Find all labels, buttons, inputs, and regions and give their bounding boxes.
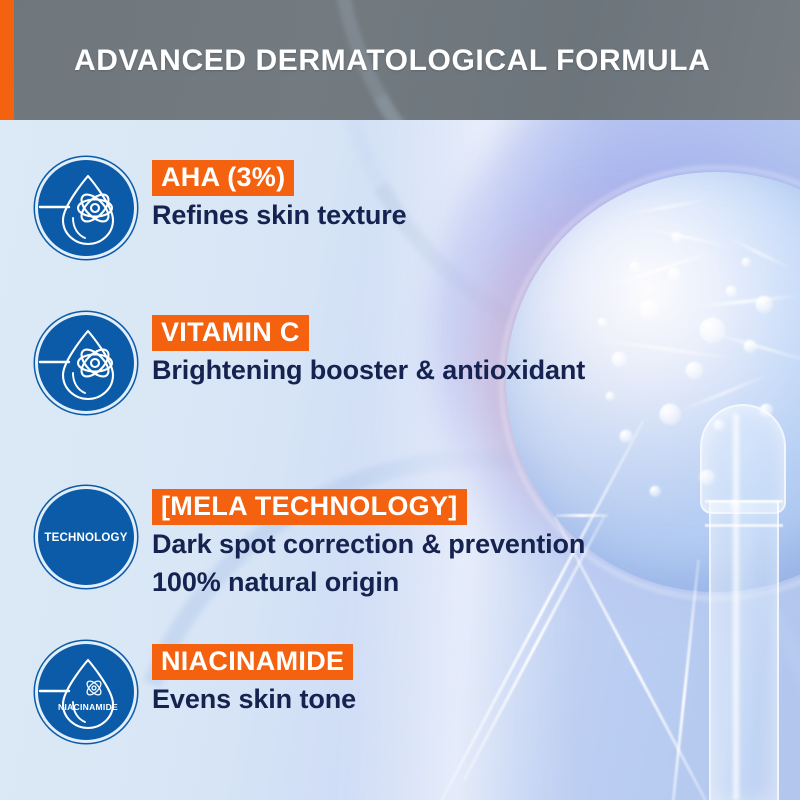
droplet-niacinamide-icon: NIACINAMIDE — [38, 644, 134, 740]
ingredient-description: Brightening booster & antioxidant — [152, 353, 585, 389]
svg-text:TECHNOLOGY: TECHNOLOGY — [44, 532, 127, 544]
ingredient-description: 100% natural origin — [152, 565, 585, 601]
technology-badge-icon: TECHNOLOGY — [38, 489, 134, 585]
ingredient-text: [MELA TECHNOLOGY]Dark spot correction & … — [152, 489, 585, 601]
technology-icon: TECHNOLOGY — [38, 489, 134, 585]
page-title: ADVANCED DERMATOLOGICAL FORMULA — [74, 44, 710, 78]
droplet-molecule-icon — [38, 160, 134, 256]
svg-text:NIACINAMIDE: NIACINAMIDE — [58, 702, 118, 712]
ingredient-badge-wrap: [MELA TECHNOLOGY] — [152, 489, 585, 525]
droplet-icon — [38, 160, 134, 256]
ingredient-name-badge: AHA (3%) — [152, 160, 294, 196]
ingredient-badge-wrap: AHA (3%) — [152, 160, 407, 196]
droplet-molecule-icon — [38, 315, 134, 411]
ingredient-badge-wrap: NIACINAMIDE — [152, 644, 356, 680]
droplet-icon — [38, 315, 134, 411]
ingredient-name-badge: [MELA TECHNOLOGY] — [152, 489, 467, 525]
ingredient-icon-1 — [38, 160, 134, 256]
ingredient-description: Evens skin tone — [152, 682, 356, 718]
droplet-icon: NIACINAMIDE — [38, 644, 134, 740]
header-accent-bar — [0, 0, 14, 120]
ingredient-badge-wrap: VITAMIN C — [152, 315, 585, 351]
ingredient-icon-2 — [38, 315, 134, 411]
ingredient-icon-3: TECHNOLOGY — [38, 489, 134, 585]
ingredient-text: AHA (3%)Refines skin texture — [152, 160, 407, 234]
ingredient-list: AHA (3%)Refines skin texture VITAMIN CBr… — [0, 120, 800, 800]
ingredient-text: VITAMIN CBrightening booster & antioxida… — [152, 315, 585, 389]
header-bar: ADVANCED DERMATOLOGICAL FORMULA — [0, 0, 800, 120]
ingredient-name-badge: NIACINAMIDE — [152, 644, 353, 680]
ingredient-icon-4: NIACINAMIDE — [38, 644, 134, 740]
infographic-page: ADVANCED DERMATOLOGICAL FORMULA AHA (3%)… — [0, 0, 800, 800]
ingredient-text: NIACINAMIDEEvens skin tone — [152, 644, 356, 718]
ingredient-description: Dark spot correction & prevention — [152, 527, 585, 563]
ingredient-name-badge: VITAMIN C — [152, 315, 309, 351]
ingredient-description: Refines skin texture — [152, 198, 407, 234]
